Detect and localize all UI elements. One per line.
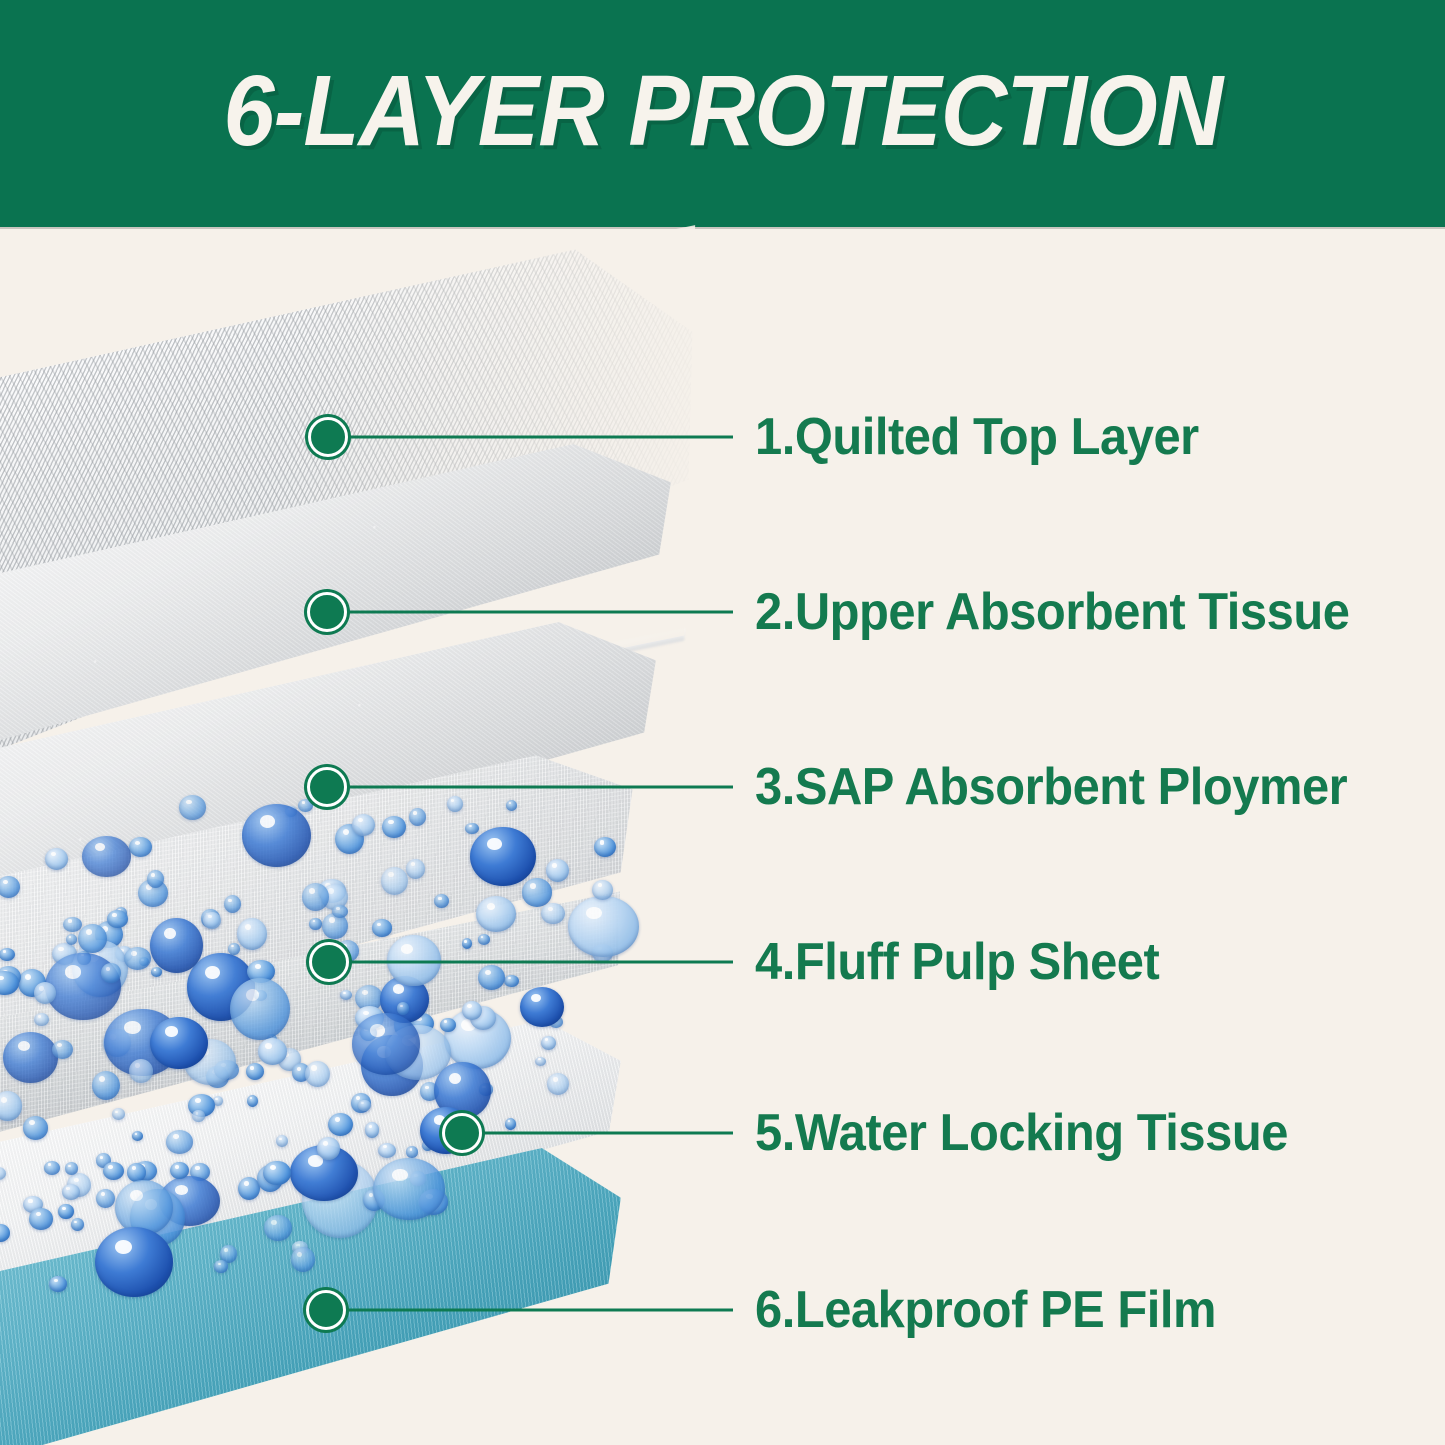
callout-leader-line-1 (342, 436, 733, 439)
layer-stack-illustration (0, 227, 760, 1445)
callout-leader-line-2 (341, 611, 733, 614)
callout-label-3: 3.SAP Absorbent Ploymer (755, 757, 1347, 817)
page-title: 6-LAYER PROTECTION (223, 61, 1222, 161)
callout-dot-3[interactable] (307, 767, 347, 807)
header-banner: 6-LAYER PROTECTION (0, 0, 1445, 227)
callout-leader-line-4 (343, 961, 733, 964)
callout-dot-1[interactable] (308, 417, 348, 457)
callout-label-1: 1.Quilted Top Layer (755, 407, 1199, 467)
callout-dot-4[interactable] (309, 942, 349, 982)
callout-label-5: 5.Water Locking Tissue (755, 1103, 1288, 1163)
callout-leader-line-6 (340, 1309, 733, 1312)
callout-label-6: 6.Leakproof PE Film (755, 1280, 1216, 1340)
callout-dot-5[interactable] (442, 1113, 482, 1153)
callout-dot-2[interactable] (307, 592, 347, 632)
callout-dot-6[interactable] (306, 1290, 346, 1330)
callout-label-4: 4.Fluff Pulp Sheet (755, 932, 1159, 992)
callout-leader-line-3 (341, 786, 733, 789)
callout-leader-line-5 (476, 1132, 733, 1135)
callout-label-2: 2.Upper Absorbent Tissue (755, 582, 1349, 642)
infographic-root: 6-LAYER PROTECTION 1.Quilted Top Layer2.… (0, 0, 1445, 1445)
